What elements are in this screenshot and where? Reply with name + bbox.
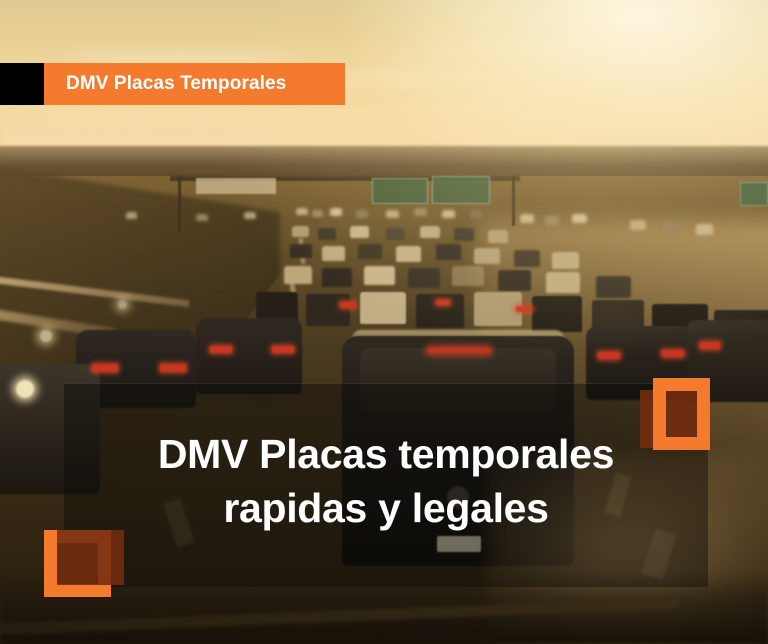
vehicle <box>572 214 587 223</box>
highway-sign <box>740 182 768 206</box>
vehicle <box>545 216 559 225</box>
cloud-wisp <box>10 112 330 122</box>
vehicle <box>662 222 678 232</box>
tail-light <box>210 346 232 353</box>
tail-light <box>700 342 720 349</box>
gantry-post <box>512 176 515 226</box>
headlight <box>16 380 34 398</box>
vehicle <box>454 228 474 241</box>
vehicle <box>312 210 323 217</box>
tail-light <box>436 300 450 305</box>
vehicle <box>546 272 580 293</box>
tail-light <box>160 364 186 372</box>
gantry-post <box>178 176 181 232</box>
tail-light <box>272 346 294 353</box>
vehicle <box>284 266 312 284</box>
tail-light <box>662 350 684 357</box>
vehicle <box>452 266 484 286</box>
vehicle <box>356 210 368 218</box>
vehicle <box>552 252 579 269</box>
highway-sign <box>372 178 428 204</box>
vehicle <box>318 228 336 240</box>
category-badge[interactable]: DMV Placas Temporales <box>44 63 345 105</box>
vehicle <box>330 208 342 216</box>
vehicle <box>358 244 382 259</box>
vehicle <box>630 220 646 230</box>
tail-light <box>340 302 356 308</box>
vehicle <box>520 214 534 223</box>
vehicle <box>436 244 461 260</box>
vehicle <box>474 248 500 264</box>
vehicle <box>386 228 405 240</box>
vehicle <box>322 246 345 261</box>
category-badge-label: DMV Placas Temporales <box>66 73 286 95</box>
vehicle <box>596 276 631 298</box>
vehicle <box>126 212 137 219</box>
hero-title-line-2: rapidas y legales <box>223 481 548 535</box>
vehicle <box>600 218 615 227</box>
highway-sign <box>432 176 490 204</box>
vehicle <box>470 210 482 218</box>
vehicle <box>244 212 256 219</box>
vehicle <box>360 292 406 324</box>
accent-square-bottom-left-fill <box>57 530 124 585</box>
tail-light <box>598 352 620 359</box>
vehicle <box>306 294 350 326</box>
cloud-wisp <box>420 40 680 58</box>
vehicle <box>290 244 312 258</box>
hero-brake-light <box>428 348 490 353</box>
vehicle <box>364 266 395 285</box>
vehicle <box>414 208 427 216</box>
vehicle <box>514 250 540 267</box>
tail-light <box>92 364 118 372</box>
hero-title: DMV Placas temporales rapidas y legales <box>64 383 708 587</box>
vehicle <box>396 246 421 262</box>
gantry-panel <box>196 178 276 194</box>
headlight <box>118 300 127 309</box>
vehicle <box>420 226 440 238</box>
vehicle <box>350 226 369 238</box>
tail-light <box>516 306 532 312</box>
vehicle <box>292 226 309 237</box>
vehicle <box>196 214 208 221</box>
vehicle <box>442 210 455 218</box>
headlight <box>40 330 52 342</box>
vehicle <box>474 292 522 326</box>
vehicle <box>296 208 308 215</box>
badge-black-block <box>0 63 44 105</box>
vehicle <box>532 296 582 332</box>
vehicle <box>408 268 440 288</box>
hero-banner: DMV Placas Temporales DMV Placas tempora… <box>0 0 768 644</box>
vehicle <box>498 270 531 291</box>
vehicle <box>386 210 399 218</box>
vehicle <box>322 268 352 287</box>
vehicle <box>696 224 713 235</box>
vehicle <box>488 230 508 243</box>
hero-title-line-1: DMV Placas temporales <box>158 427 614 481</box>
